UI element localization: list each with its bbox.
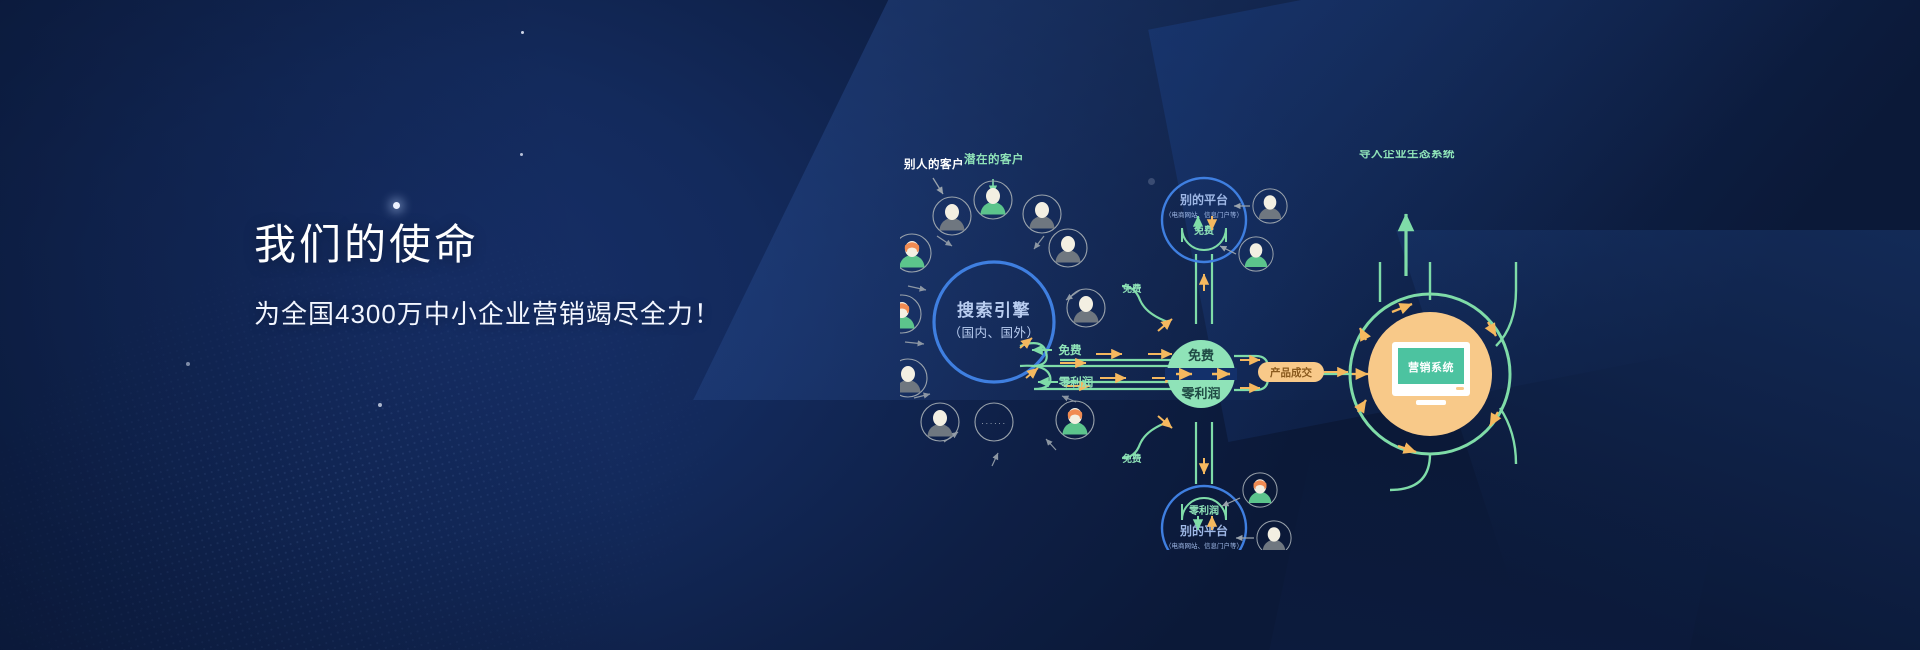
avatar: [1056, 401, 1094, 439]
mission-copy-block: 我们的使命 为全国4300万中小企业营销竭尽全力！: [254, 222, 721, 331]
flow-label-zero-profit: 零利润: [1058, 375, 1094, 389]
marketing-ecosystem-diagram: ······ 搜索引擎 （国内、国外）: [900, 150, 1520, 550]
dot-grid-texture: [0, 22, 881, 650]
search-engine-subtitle: （国内、国外）: [948, 326, 1039, 340]
central-hub-node: 免费 零利润: [1165, 340, 1237, 408]
star-dot-glow: [393, 202, 400, 209]
flow-label-free: 免费: [1059, 343, 1082, 357]
platform-bottom-badge: 零利润: [1188, 504, 1219, 517]
product-deal-label: 产品成交: [1270, 366, 1312, 379]
branch-label-free-lower: 免费: [1122, 453, 1142, 465]
star-dot: [186, 362, 190, 366]
label-others-customers: 别人的客户: [903, 157, 964, 171]
marketing-system-node: 营销系统: [1350, 294, 1510, 454]
product-deal-pill: 产品成交: [1258, 362, 1324, 382]
hub-top-label: 免费: [1188, 348, 1214, 363]
platform-node-top: 别的平台 （电商网站、信息门户等） 免费: [1162, 178, 1246, 262]
avatar: [921, 403, 959, 441]
ellipsis-label: ······: [981, 419, 1007, 428]
platform-node-bottom: 别的平台 （电商网站、信息门户等） 零利润: [1162, 486, 1246, 550]
avatar: [933, 197, 971, 235]
avatar: [1023, 195, 1061, 233]
hero-banner: 我们的使命 为全国4300万中小企业营销竭尽全力！: [0, 0, 1920, 650]
avatar: [1257, 521, 1291, 550]
hub-bottom-label: 零利润: [1180, 386, 1220, 401]
avatar: [1253, 189, 1287, 223]
avatar: [1049, 229, 1087, 267]
platform-bottom-title: 别的平台: [1179, 523, 1228, 538]
page-title: 我们的使命: [254, 222, 721, 268]
branch-label-free-upper: 免费: [1122, 283, 1142, 295]
ellipsis-node: ······: [975, 403, 1013, 441]
platform-bottom-circle: [1162, 486, 1246, 550]
platform-bottom-subtitle: （电商网站、信息门户等）: [1165, 541, 1243, 550]
label-potential-customers: 潜在的客户: [964, 152, 1024, 166]
avatar: [900, 359, 927, 397]
avatar: [1243, 473, 1277, 507]
avatar: [900, 295, 921, 333]
platform-top-subtitle: （电商网站、信息门户等）: [1165, 210, 1243, 219]
avatar: [1239, 237, 1273, 271]
star-dot: [520, 153, 523, 156]
avatar: [900, 234, 931, 272]
star-dot: [521, 31, 524, 34]
search-engine-title: 搜索引擎: [957, 300, 1031, 320]
page-subtitle: 为全国4300万中小企业营销竭尽全力！: [254, 294, 721, 331]
avatar: [1067, 289, 1105, 327]
platform-top-title: 别的平台: [1179, 192, 1228, 207]
search-engine-node: [934, 262, 1054, 382]
marketing-system-label: 营销系统: [1408, 360, 1454, 374]
label-import-ecosystem: 导入企业生态系统: [1359, 150, 1455, 160]
others-customer-arrow: [933, 178, 943, 194]
star-dot: [378, 403, 382, 407]
